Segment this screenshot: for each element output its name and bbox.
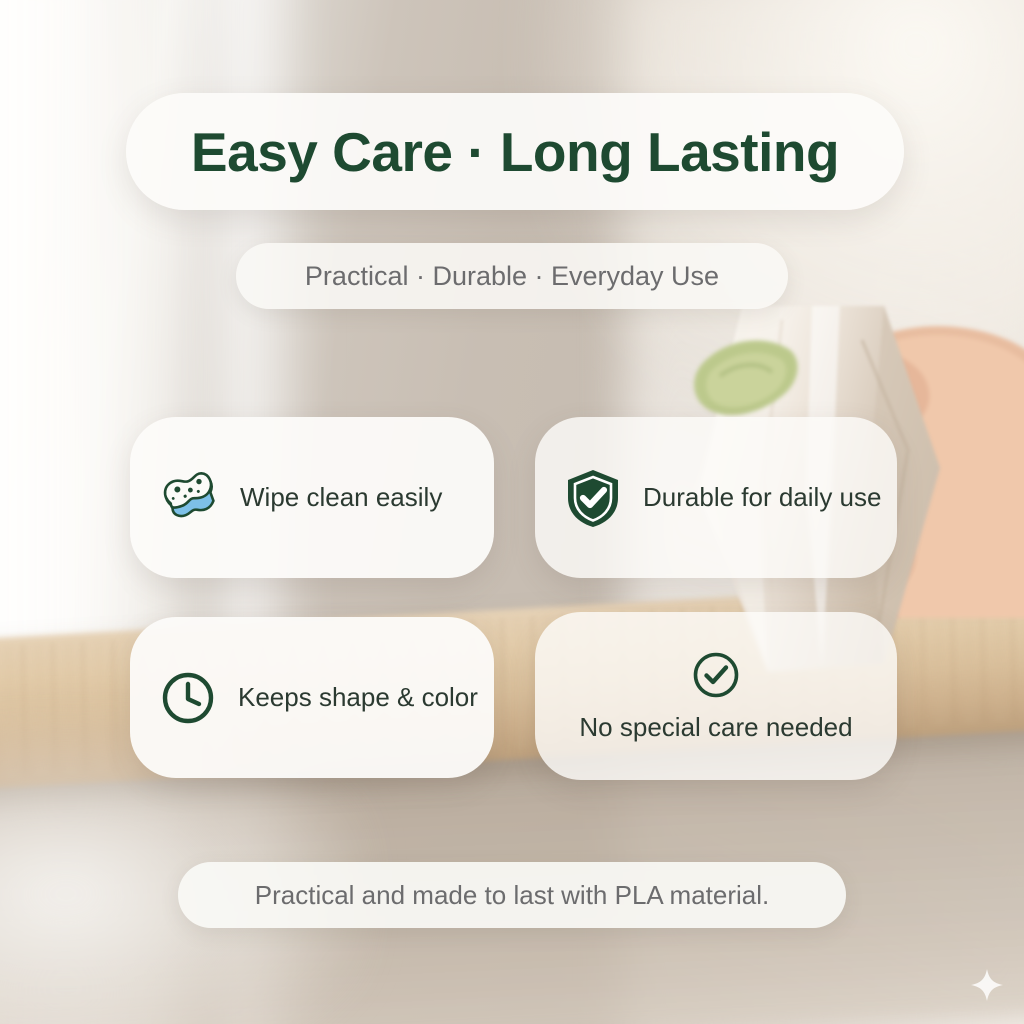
circle-check-icon: [691, 650, 741, 700]
footer-text: Practical and made to last with PLA mate…: [255, 880, 769, 911]
feature-label: Wipe clean easily: [240, 482, 442, 513]
sparkle-icon: [970, 968, 1004, 1002]
clock-icon: [160, 670, 216, 726]
feature-card-durable[interactable]: Durable for daily use: [535, 417, 897, 578]
shield-check-icon: [565, 468, 621, 528]
page-title: Easy Care · Long Lasting: [191, 120, 839, 184]
feature-label: No special care needed: [579, 712, 852, 743]
page-subtitle: Practical · Durable · Everyday Use: [305, 261, 719, 292]
feature-label: Keeps shape & color: [238, 682, 478, 713]
feature-card-keeps-shape[interactable]: Keeps shape & color: [130, 617, 494, 778]
feature-card-no-special-care[interactable]: No special care needed: [535, 612, 897, 780]
footer-pill: Practical and made to last with PLA mate…: [178, 862, 846, 928]
feature-label: Durable for daily use: [643, 482, 881, 513]
title-pill: Easy Care · Long Lasting: [126, 93, 904, 210]
infographic-canvas: Easy Care · Long Lasting Practical · Dur…: [0, 0, 1024, 1024]
subtitle-pill: Practical · Durable · Everyday Use: [236, 243, 788, 309]
feature-card-wipe-clean[interactable]: Wipe clean easily: [130, 417, 494, 578]
sponge-icon: [160, 469, 218, 527]
